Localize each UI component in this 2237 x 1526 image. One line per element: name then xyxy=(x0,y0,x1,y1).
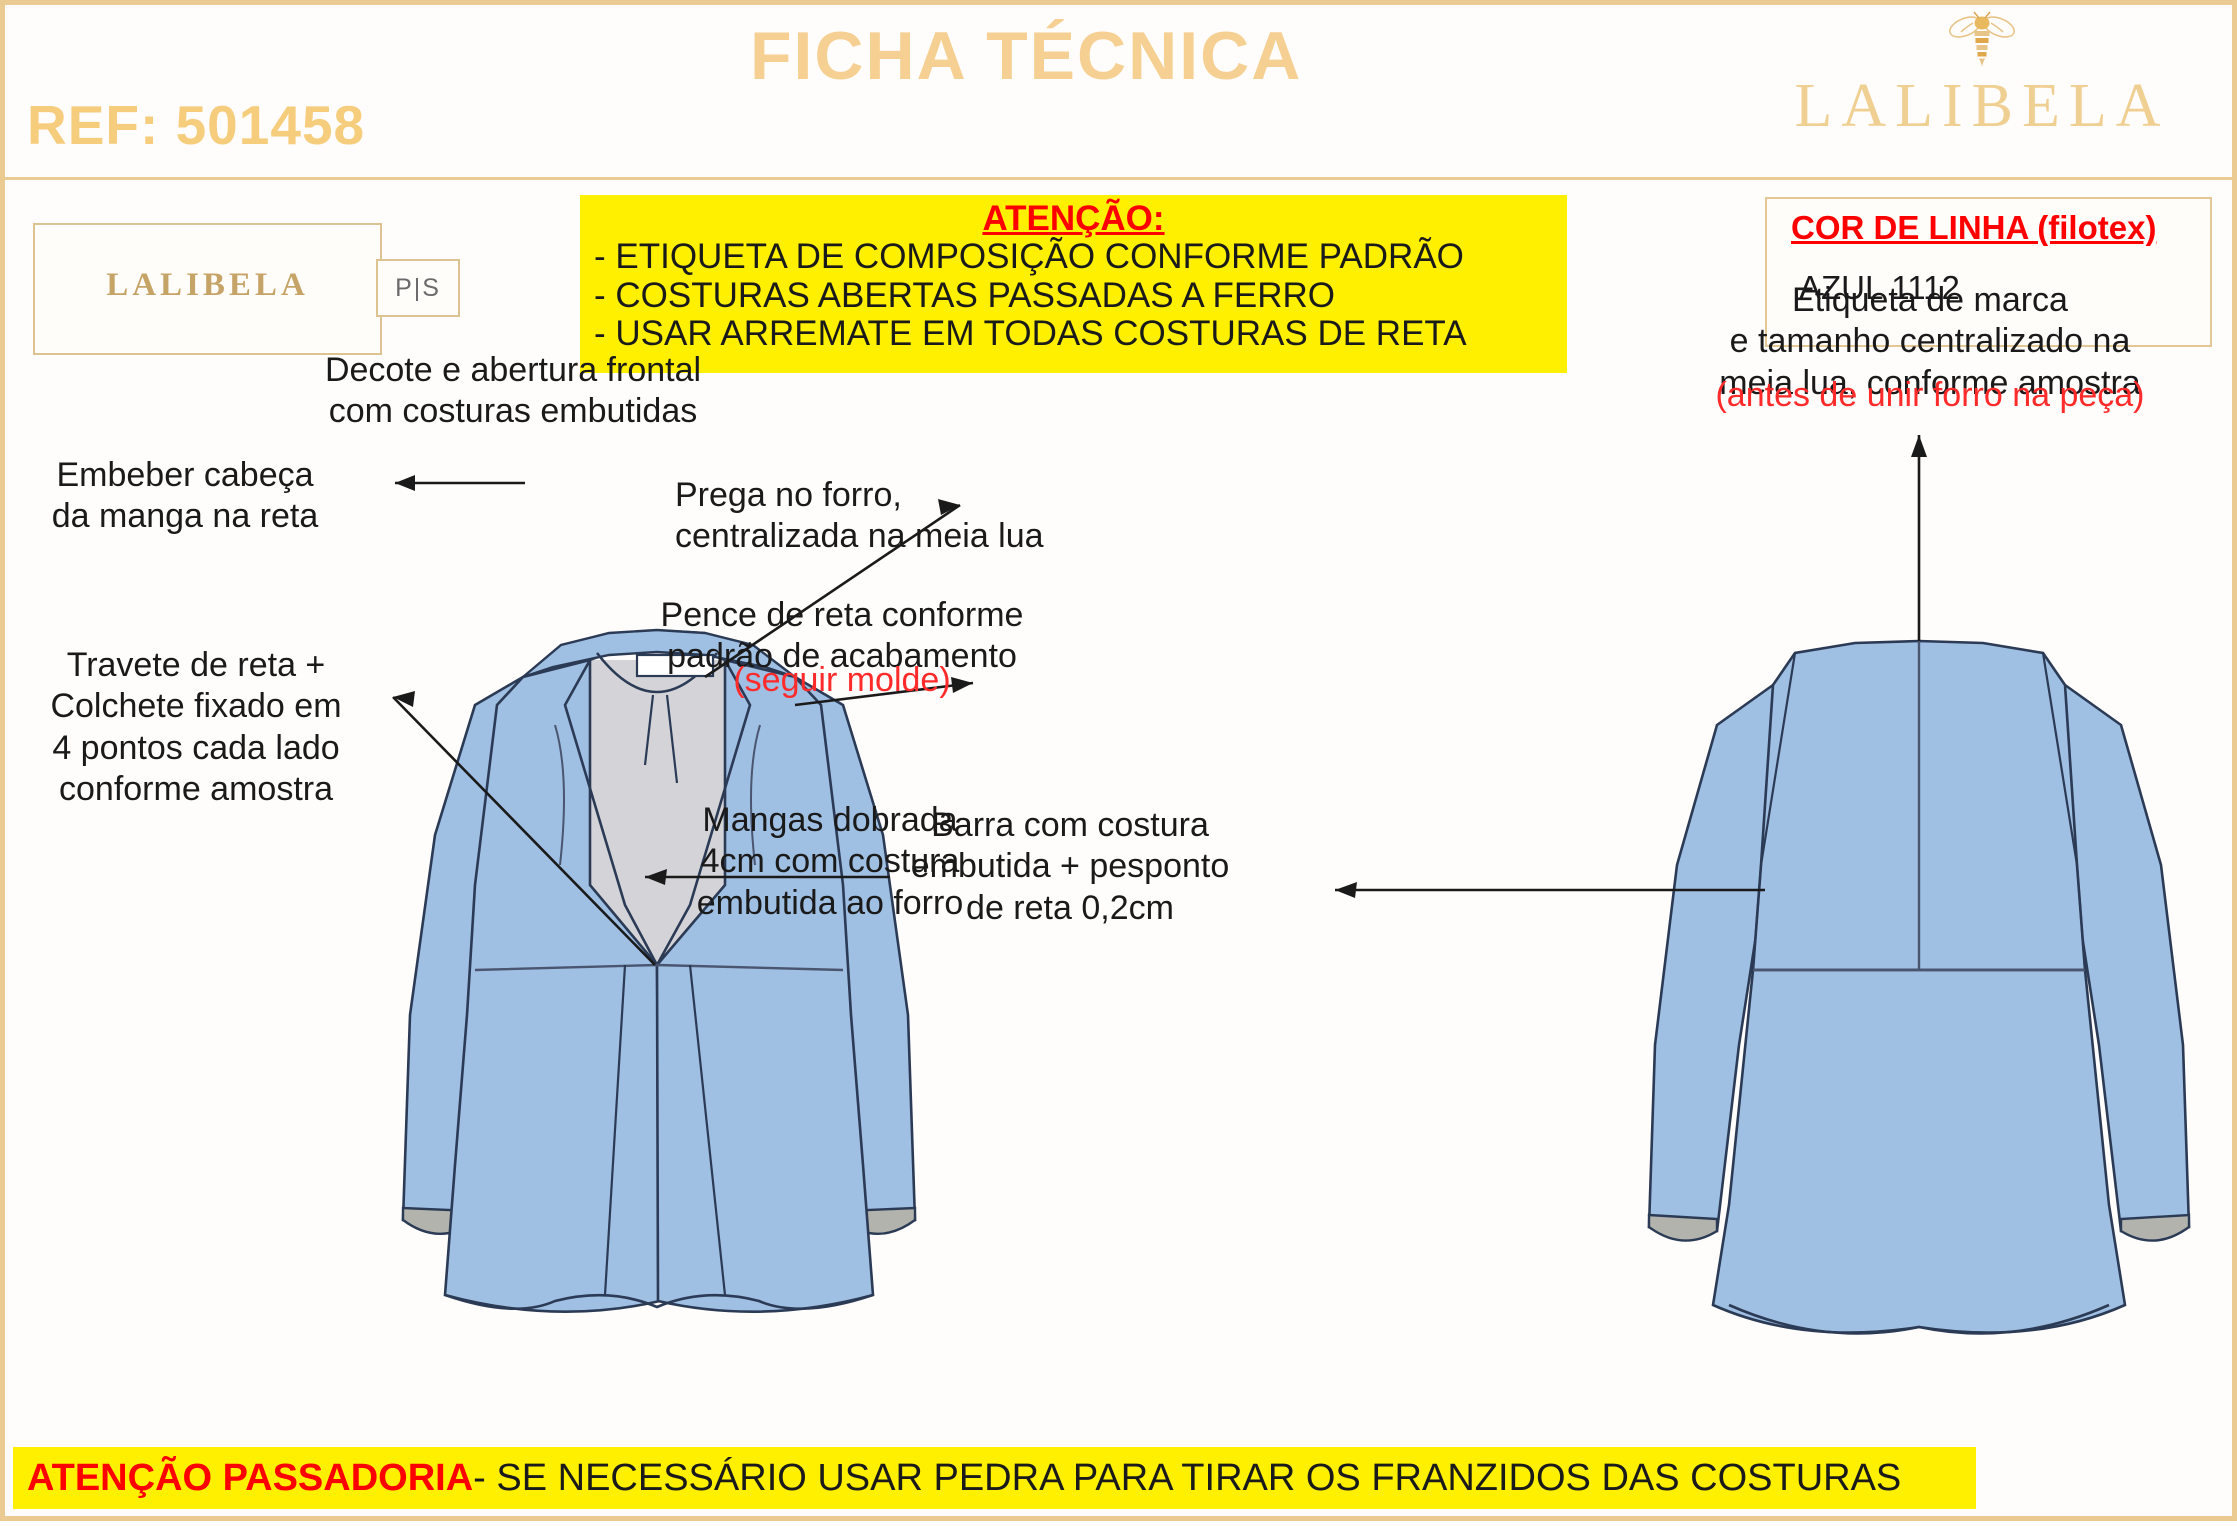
annotation-decote: Decote e abertura frontal com costuras e… xyxy=(293,350,733,433)
back-right-sleeve xyxy=(2065,685,2189,1231)
front-peplum-hem xyxy=(445,1295,873,1309)
annotation-prega: Prega no forro, centralizada na meia lua xyxy=(675,475,1095,558)
annotation-travete: Travete de reta + Colchete fixado em 4 p… xyxy=(11,645,381,811)
front-lining-fill xyxy=(550,660,765,1295)
lining-pleat-left xyxy=(645,695,653,765)
attention-line-2: - COSTURAS ABERTAS PASSADAS A FERRO xyxy=(580,277,1567,316)
front-lining-edge-left xyxy=(605,965,625,1295)
arrow-barra xyxy=(1335,882,1357,898)
reference-number: REF: 501458 xyxy=(27,93,365,157)
attention-line-1: - ETIQUETA DE COMPOSIÇÃO CONFORME PADRÃO xyxy=(580,238,1567,277)
garment-label-box: LALIBELA xyxy=(33,223,382,355)
back-left-princess-seam xyxy=(1753,653,1795,970)
front-left-body xyxy=(445,660,660,1312)
attention-box: ATENÇÃO: - ETIQUETA DE COMPOSIÇÃO CONFOR… xyxy=(580,195,1567,373)
brand-name: LALIBELA xyxy=(1762,75,2202,137)
front-left-dart xyxy=(555,725,564,865)
page-title: FICHA TÉCNICA xyxy=(750,17,1302,95)
size-tag: P|S xyxy=(376,259,460,317)
front-garment-view xyxy=(403,630,915,1312)
back-peplum xyxy=(1713,970,2125,1333)
back-right-cuff xyxy=(2121,1215,2189,1241)
front-left-cuff xyxy=(403,1208,473,1234)
front-waist-seam xyxy=(475,965,843,970)
front-left-opening-edge xyxy=(565,660,657,965)
arrow-etiqueta xyxy=(1911,435,1927,457)
annotation-etiqueta-antes-forro: (antes de unir forro na peça) xyxy=(1630,375,2230,416)
arrow-travete xyxy=(393,691,415,707)
back-garment-view xyxy=(1649,641,2189,1333)
front-right-sleeve xyxy=(793,677,915,1223)
tech-sheet-page: REF: 501458 FICHA TÉCNICA LALIBELA xyxy=(0,0,2237,1521)
back-left-cuff xyxy=(1649,1215,1717,1241)
arrow-mangas xyxy=(645,869,667,885)
front-right-cuff xyxy=(845,1208,915,1234)
bottom-banner-text: - SE NECESSÁRIO USAR PEDRA PARA TIRAR OS… xyxy=(473,1457,1901,1500)
leader-travete xyxy=(393,697,655,965)
back-bodice xyxy=(1753,641,2085,970)
back-right-princess-seam xyxy=(2043,653,2085,970)
back-hem-curve xyxy=(1729,1305,2109,1333)
annotation-barra: Barra com costura embutida + pesponto de… xyxy=(905,805,1235,929)
brand-logo: LALIBELA xyxy=(1762,11,2202,137)
attention-title: ATENÇÃO: xyxy=(580,199,1567,238)
front-right-body xyxy=(657,660,873,1312)
thread-color-title: COR DE LINHA (filotex) xyxy=(1791,209,2210,247)
annotation-embeber: Embeber cabeça da manga na reta xyxy=(15,455,355,538)
front-left-sleeve xyxy=(403,677,525,1223)
front-lining-edge-right xyxy=(690,965,725,1295)
label-brand-text: LALIBELA xyxy=(35,267,380,304)
bottom-attention-banner: ATENÇÃO PASSADORIA - SE NECESSÁRIO USAR … xyxy=(13,1447,1976,1509)
back-left-sleeve xyxy=(1649,685,1773,1231)
bee-icon xyxy=(1943,11,2021,73)
bottom-banner-highlight: ATENÇÃO PASSADORIA xyxy=(27,1457,473,1500)
page-header: REF: 501458 FICHA TÉCNICA LALIBELA xyxy=(5,5,2232,180)
lining-pleat-right xyxy=(667,695,677,783)
annotation-pence-seguir-molde: (seguir molde) xyxy=(627,660,1057,701)
attention-line-3: - USAR ARREMATE EM TODAS COSTURAS DE RET… xyxy=(580,315,1567,354)
arrow-embeber xyxy=(395,475,415,491)
